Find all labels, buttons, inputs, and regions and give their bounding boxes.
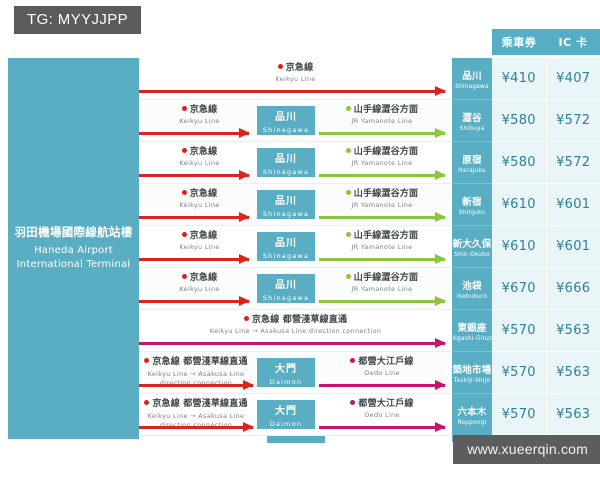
route-arrow: [139, 216, 249, 219]
fare-ticket-value: ¥610: [492, 184, 547, 225]
fare-ticket-value: ¥580: [492, 100, 547, 141]
fare-ticket-value: ¥610: [492, 226, 547, 267]
destination-name-jp: 池袋: [462, 278, 481, 292]
fare-ic-value: ¥407: [547, 58, 600, 99]
line-name-jp: 山手線澀谷方面: [319, 273, 445, 283]
line-name-en: JR Yamanote Line: [319, 118, 445, 125]
destination-station-cell: 池袋Ikebukuro: [452, 268, 492, 310]
destination-name-jp: 東銀座: [457, 320, 486, 334]
line-label: 京急線Keikyu Line: [147, 231, 252, 252]
destination-station-cell: 築地市場Tsukiji-Shijo: [452, 352, 492, 394]
line-name-jp: 京急線: [147, 147, 252, 157]
transfer-station-jp: 大門: [275, 402, 297, 417]
destination-name-jp: 品川: [462, 68, 481, 82]
line-name-en: JR Yamanote Line: [319, 286, 445, 293]
line-name-jp: 山手線澀谷方面: [319, 189, 445, 199]
fare-header-ticket: 乘車券: [492, 29, 546, 55]
transfer-station-box: 品川Shinagawa: [257, 232, 315, 261]
transfer-station-en: Shinagawa: [263, 294, 309, 302]
fare-ticket-value: ¥580: [492, 142, 547, 183]
destination-name-jp: 新大久保: [453, 236, 492, 250]
destination-station-cell: 原宿Harajuku: [452, 142, 492, 184]
line-label: 山手線澀谷方面JR Yamanote Line: [319, 105, 445, 126]
fare-ic-value: ¥563: [547, 352, 600, 393]
route-arrow: [139, 342, 445, 345]
line-color-dot-icon: [182, 106, 187, 111]
line-label: 山手線澀谷方面JR Yamanote Line: [319, 231, 445, 252]
line-name-jp: 京急線 都營淺草線直通: [137, 399, 255, 409]
origin-station-panel: 羽田機場國際線航站樓 Haneda Airport International …: [8, 58, 139, 439]
route-row: 京急線Keikyu Line品川Shinagawa山手線澀谷方面JR Yaman…: [139, 100, 452, 142]
line-color-dot-icon: [346, 274, 351, 279]
origin-name-en-line1: Haneda Airport: [17, 244, 131, 258]
route-arrow: [319, 384, 445, 387]
transfer-station-jp: 品川: [275, 108, 297, 123]
destination-name-jp: 原宿: [462, 152, 481, 166]
destination-name-en: Shinjuku: [459, 210, 485, 216]
line-color-dot-icon: [144, 358, 149, 363]
line-name-jp: 京急線 都營淺草線直通: [169, 315, 422, 325]
transfer-station-en: Daimon: [270, 378, 302, 386]
line-name-jp: 京急線: [147, 189, 252, 199]
destination-name-jp: 六本木: [457, 404, 486, 418]
line-color-dot-icon: [346, 106, 351, 111]
line-name-en: JR Yamanote Line: [319, 160, 445, 167]
line-color-dot-icon: [346, 232, 351, 237]
route-row: 京急線 都營淺草線直通Keikyu Line → Asakusa Line di…: [139, 394, 452, 436]
line-color-dot-icon: [244, 316, 249, 321]
fare-table-body: ¥410¥407¥580¥572¥580¥572¥610¥601¥610¥601…: [492, 58, 600, 442]
route-arrow: [319, 258, 445, 261]
transfer-station-jp: 品川: [275, 192, 297, 207]
transfer-station-en: Daimon: [270, 420, 302, 428]
line-label: 京急線 都營淺草線直通Keikyu Line → Asakusa Line di…: [169, 315, 422, 336]
destination-station-cell: 六本木Roppongi: [452, 394, 492, 436]
line-label: 京急線Keikyu Line: [169, 63, 422, 84]
route-row: 京急線Keikyu Line品川Shinagawa山手線澀谷方面JR Yaman…: [139, 268, 452, 310]
destination-station-cell: 東銀座Higashi-Ginza: [452, 310, 492, 352]
destination-name-en: Shinagawa: [455, 84, 489, 90]
fare-row: ¥670¥666: [492, 268, 600, 310]
line-color-dot-icon: [346, 148, 351, 153]
fare-row: ¥570¥563: [492, 394, 600, 436]
route-row: 京急線Keikyu Line品川Shinagawa山手線澀谷方面JR Yaman…: [139, 142, 452, 184]
fare-row: ¥610¥601: [492, 184, 600, 226]
line-label: 都營大江戶線Oedo Line: [319, 399, 445, 420]
line-name-en: Oedo Line: [319, 412, 445, 419]
destination-station-cell: 新宿Shinjuku: [452, 184, 492, 226]
line-label: 京急線Keikyu Line: [147, 105, 252, 126]
fare-ic-value: ¥666: [547, 268, 600, 309]
transfer-station-jp: 品川: [275, 234, 297, 249]
route-arrow: [139, 174, 249, 177]
line-name-en: Keikyu Line: [147, 286, 252, 293]
transfer-station-jp: 大門: [275, 360, 297, 375]
fare-ic-value: ¥572: [547, 142, 600, 183]
destination-name-en: Shibuya: [460, 126, 485, 132]
line-name-jp: 都營大江戶線: [319, 357, 445, 367]
route-arrow: [139, 426, 253, 429]
destination-name-en: Harajuku: [458, 168, 486, 174]
destination-station-column: 品川Shinagawa澀谷Shibuya原宿Harajuku新宿Shinjuku…: [452, 58, 492, 442]
route-row: 京急線Keikyu Line: [139, 58, 452, 100]
line-label: 山手線澀谷方面JR Yamanote Line: [319, 147, 445, 168]
fare-ticket-value: ¥570: [492, 394, 547, 435]
line-name-en: Keikyu Line: [169, 76, 422, 83]
route-arrow: [139, 132, 249, 135]
transfer-station-jp: 品川: [275, 150, 297, 165]
line-color-dot-icon: [350, 358, 355, 363]
line-color-dot-icon: [350, 400, 355, 405]
destination-station-cell: 新大久保Shin-Okubo: [452, 226, 492, 268]
transfer-station-en: Shinagawa: [263, 168, 309, 176]
route-arrow: [319, 132, 445, 135]
transfer-station-box: 品川Shinagawa: [257, 190, 315, 219]
fare-ic-value: ¥572: [547, 100, 600, 141]
destination-name-en: Shin-Okubo: [454, 252, 490, 258]
route-arrow: [319, 174, 445, 177]
destination-name-jp: 築地市場: [453, 362, 492, 376]
line-color-dot-icon: [346, 190, 351, 195]
line-name-jp: 京急線: [147, 273, 252, 283]
fare-row: ¥570¥563: [492, 352, 600, 394]
route-arrow: [319, 216, 445, 219]
fare-ic-value: ¥563: [547, 310, 600, 351]
route-rows-container: 京急線Keikyu Line京急線Keikyu Line品川Shinagawa山…: [139, 58, 452, 442]
line-color-dot-icon: [182, 190, 187, 195]
transfer-station-en: Shinagawa: [263, 252, 309, 260]
line-color-dot-icon: [144, 400, 149, 405]
line-name-jp: 山手線澀谷方面: [319, 147, 445, 157]
fare-row: ¥610¥601: [492, 226, 600, 268]
line-label: 山手線澀谷方面JR Yamanote Line: [319, 273, 445, 294]
origin-name-en: Haneda Airport International Terminal: [17, 244, 131, 271]
line-name-en: Keikyu Line: [147, 244, 252, 251]
origin-name-en-line2: International Terminal: [17, 258, 131, 272]
route-row: 京急線 都營淺草線直通Keikyu Line → Asakusa Line di…: [139, 310, 452, 352]
line-name-en: JR Yamanote Line: [319, 244, 445, 251]
route-row: 京急線Keikyu Line品川Shinagawa山手線澀谷方面JR Yaman…: [139, 184, 452, 226]
transfer-station-box: 大門Daimon: [257, 400, 315, 429]
line-color-dot-icon: [278, 64, 283, 69]
route-arrow: [139, 258, 249, 261]
route-arrow: [139, 90, 445, 93]
destination-name-jp: 新宿: [462, 194, 481, 208]
destination-station-cell: 品川Shinagawa: [452, 58, 492, 100]
line-label: 都營大江戶線Oedo Line: [319, 357, 445, 378]
transfer-station-box: 品川Shinagawa: [257, 274, 315, 303]
fare-ticket-value: ¥410: [492, 58, 547, 99]
line-name-en: Keikyu Line: [147, 118, 252, 125]
fare-ic-value: ¥601: [547, 184, 600, 225]
route-row: 京急線Keikyu Line品川Shinagawa山手線澀谷方面JR Yaman…: [139, 226, 452, 268]
destination-name-jp: 澀谷: [462, 110, 481, 124]
line-color-dot-icon: [182, 274, 187, 279]
fare-row: ¥580¥572: [492, 100, 600, 142]
transfer-station-box: 品川Shinagawa: [257, 148, 315, 177]
transfer-station-box: 大門Daimon: [257, 358, 315, 387]
fare-ic-value: ¥601: [547, 226, 600, 267]
line-label: 京急線Keikyu Line: [147, 189, 252, 210]
fare-header-ic-card: IC 卡: [546, 29, 600, 55]
fare-row: ¥410¥407: [492, 58, 600, 100]
transfer-station-en: Shinagawa: [263, 126, 309, 134]
transfer-station-en: Shinagawa: [263, 210, 309, 218]
line-color-dot-icon: [182, 232, 187, 237]
destination-name-en: Higashi-Ginza: [451, 336, 494, 342]
line-label: 山手線澀谷方面JR Yamanote Line: [319, 189, 445, 210]
route-row: 京急線 都營淺草線直通Keikyu Line → Asakusa Line di…: [139, 352, 452, 394]
tg-watermark-tag: TG: MYYJJPP: [14, 6, 141, 34]
line-name-en: Oedo Line: [319, 370, 445, 377]
route-arrow: [319, 426, 445, 429]
line-name-en: Keikyu Line → Asakusa Line direction con…: [169, 328, 422, 335]
route-arrow: [319, 300, 445, 303]
bottom-row-stub: [267, 436, 325, 443]
line-name-jp: 京急線: [147, 105, 252, 115]
fare-table-header: 乘車券 IC 卡: [492, 29, 600, 55]
destination-name-en: Ikebukuro: [457, 294, 487, 300]
line-name-jp: 都營大江戶線: [319, 399, 445, 409]
line-label: 京急線Keikyu Line: [147, 273, 252, 294]
line-name-en: JR Yamanote Line: [319, 202, 445, 209]
destination-station-cell: 澀谷Shibuya: [452, 100, 492, 142]
line-name-jp: 山手線澀谷方面: [319, 231, 445, 241]
destination-name-en: Roppongi: [458, 420, 487, 426]
site-url-watermark: www.xueerqin.com: [453, 435, 600, 464]
fare-ic-value: ¥563: [547, 394, 600, 435]
line-label: 京急線Keikyu Line: [147, 147, 252, 168]
line-name-en: Keikyu Line: [147, 160, 252, 167]
line-name-jp: 京急線: [169, 63, 422, 73]
fare-ticket-value: ¥570: [492, 352, 547, 393]
fare-ticket-value: ¥670: [492, 268, 547, 309]
fare-row: ¥570¥563: [492, 310, 600, 352]
origin-name-jp: 羽田機場國際線航站樓: [15, 226, 133, 240]
transfer-station-jp: 品川: [275, 276, 297, 291]
fare-ticket-value: ¥570: [492, 310, 547, 351]
fare-row: ¥580¥572: [492, 142, 600, 184]
line-name-jp: 京急線: [147, 231, 252, 241]
transfer-station-box: 品川Shinagawa: [257, 106, 315, 135]
line-name-jp: 京急線 都營淺草線直通: [137, 357, 255, 367]
destination-name-en: Tsukiji-Shijo: [454, 378, 490, 384]
route-arrow: [139, 384, 253, 387]
route-arrow: [139, 300, 249, 303]
line-name-jp: 山手線澀谷方面: [319, 105, 445, 115]
line-name-en: Keikyu Line: [147, 202, 252, 209]
line-color-dot-icon: [182, 148, 187, 153]
